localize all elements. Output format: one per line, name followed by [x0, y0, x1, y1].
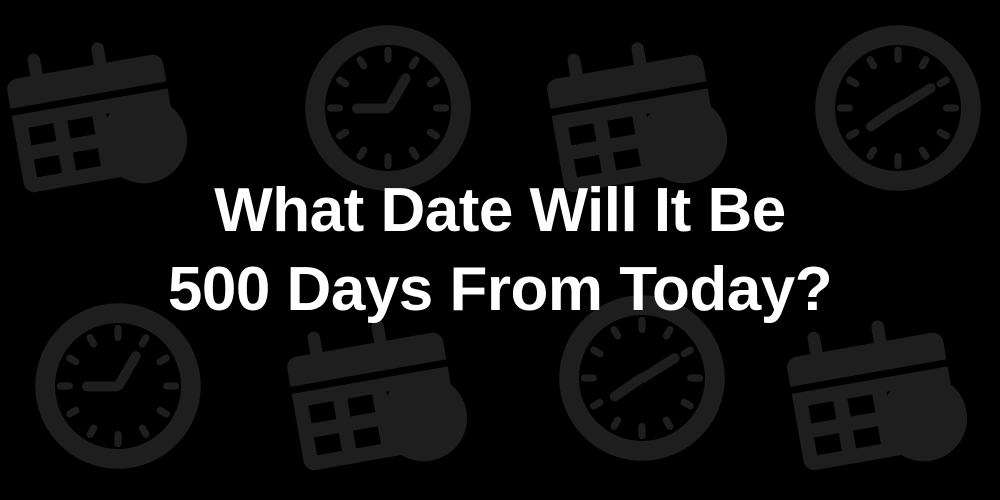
- headline-line-1: What Date Will It Be: [214, 171, 786, 250]
- page-title: What Date Will It Be 500 Days From Today…: [0, 0, 1000, 500]
- banner-graphic: What Date Will It Be 500 Days From Today…: [0, 0, 1000, 500]
- headline-line-2: 500 Days From Today?: [168, 250, 832, 329]
